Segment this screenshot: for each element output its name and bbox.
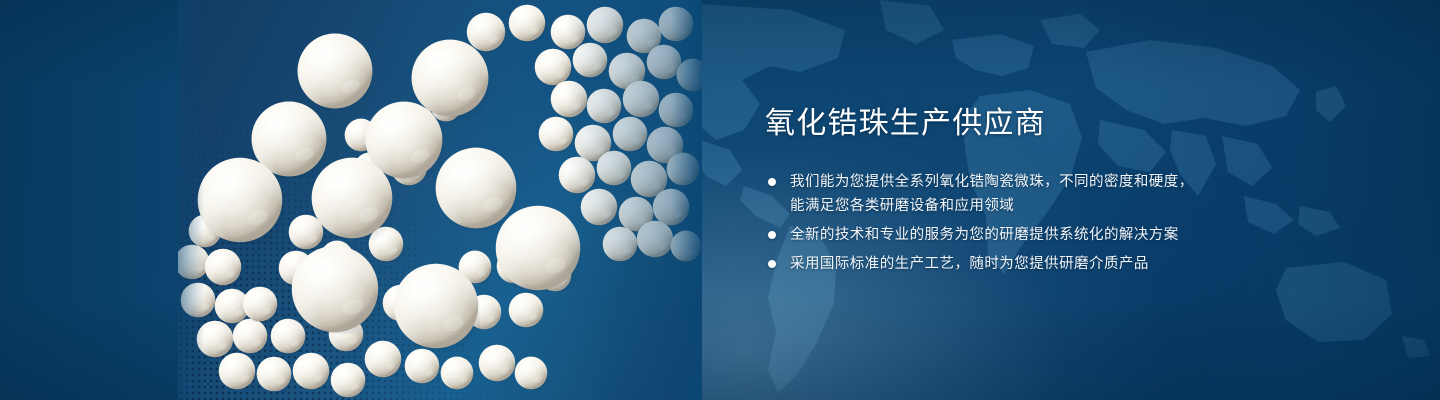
zirconia-beads-photo [178, 0, 702, 400]
feature-list: 我们能为您提供全系列氧化锆陶瓷微珠，不同的密度和硬度， 能满足您各类研磨设备和应… [765, 170, 1365, 276]
feature-text-line: 采用国际标准的生产工艺，随时为您提供研磨介质产品 [790, 252, 1365, 276]
feature-text-line: 能满足您各类研磨设备和应用领域 [790, 194, 1365, 218]
bullet-dot-icon [768, 178, 776, 186]
list-item: 全新的技术和专业的服务为您的研磨提供系统化的解决方案 [765, 223, 1365, 247]
hero-banner: 氧化锆珠生产供应商 我们能为您提供全系列氧化锆陶瓷微珠，不同的密度和硬度， 能满… [0, 0, 1440, 400]
bullet-dot-icon [768, 260, 776, 268]
bullet-dot-icon [768, 231, 776, 239]
feature-text-line: 全新的技术和专业的服务为您的研磨提供系统化的解决方案 [790, 223, 1365, 247]
bead-cluster-illustration [178, 0, 702, 400]
page-title: 氧化锆珠生产供应商 [765, 104, 1365, 144]
banner-copy: 氧化锆珠生产供应商 我们能为您提供全系列氧化锆陶瓷微珠，不同的密度和硬度， 能满… [765, 104, 1365, 276]
list-item: 我们能为您提供全系列氧化锆陶瓷微珠，不同的密度和硬度， 能满足您各类研磨设备和应… [765, 170, 1365, 218]
list-item: 采用国际标准的生产工艺，随时为您提供研磨介质产品 [765, 252, 1365, 276]
feature-text-line: 我们能为您提供全系列氧化锆陶瓷微珠，不同的密度和硬度， [790, 170, 1365, 194]
